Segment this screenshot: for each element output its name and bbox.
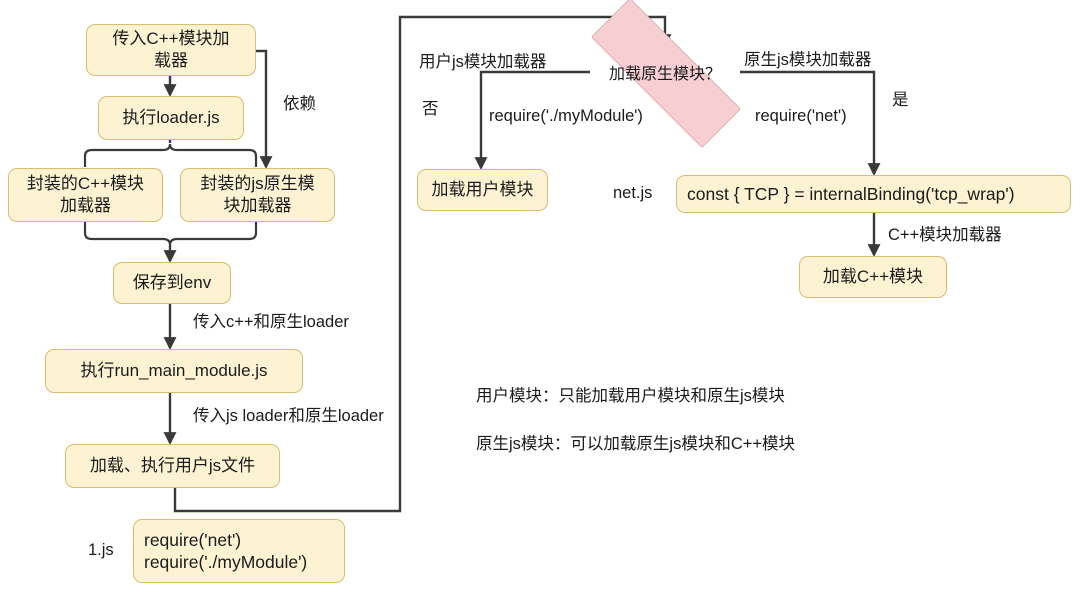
node-label: 封装的js原生模 块加载器 [200,173,314,217]
node-label: const { TCP } = internalBinding('tcp_wra… [687,183,1015,205]
edge-label-pass-cpp-and-native-loader: 传入c++和原生loader [193,313,349,333]
side-label-text: net.js [613,184,652,202]
node-user-file-requires[interactable]: require('net') require('./myModule') [133,519,345,583]
node-label: 加载C++模块 [823,266,923,288]
note-text: 用户模块：只能加载用户模块和原生js模块 [476,387,785,405]
node-load-run-user-js-file[interactable]: 加载、执行用户js文件 [65,444,280,488]
edge-label-text: C++模块加载器 [888,226,1002,244]
node-label: 执行run_main_module.js [80,360,267,382]
node-label: require('net') require('./myModule') [144,529,307,574]
edge-label-text: 传入c++和原生loader [193,313,349,331]
node-wrapped-js-native-module-loader[interactable]: 封装的js原生模 块加载器 [180,168,335,222]
side-label-text: 用户js模块加载器 [419,53,546,71]
node-label: 封装的C++模块 加载器 [27,173,144,217]
edge-label-text: 依赖 [283,95,316,113]
flowchart-canvas: 传入C++模块加 载器 执行loader.js 封装的C++模块 加载器 封装的… [0,0,1080,615]
side-label-text: 1.js [88,541,114,559]
node-label: 加载用户模块 [432,179,534,201]
node-label: 执行loader.js [122,107,219,129]
edge-n1-n4-dependency [256,51,266,167]
edge-label-pass-js-loader-and-native-loader: 传入js loader和原生loader [193,407,384,427]
edge-label-yes: 是 [892,91,909,111]
edge-label-text: 否 [422,100,439,118]
note-native-js-module: 原生js模块：可以加载原生js模块和C++模块 [476,430,795,454]
node-load-cpp-module[interactable]: 加载C++模块 [799,256,947,298]
side-label-user-js-module-loader: 用户js模块加载器 [419,48,546,72]
node-run-main-module-js[interactable]: 执行run_main_module.js [45,349,303,393]
edge-label-no: 否 [422,100,439,120]
node-pass-cpp-module-loader[interactable]: 传入C++模块加 载器 [86,24,256,76]
note-text: 原生js模块：可以加载原生js模块和C++模块 [476,435,795,453]
node-run-loader-js[interactable]: 执行loader.js [98,96,244,140]
node-label: 保存到env [133,272,211,294]
note-user-module: 用户模块：只能加载用户模块和原生js模块 [476,382,785,406]
node-netjs-internal-binding[interactable]: const { TCP } = internalBinding('tcp_wra… [676,175,1071,213]
edge-label-cpp-module-loader: C++模块加载器 [888,226,1002,246]
node-wrapped-cpp-module-loader[interactable]: 封装的C++模块 加载器 [8,168,163,222]
side-label-net-js: net.js [613,184,652,203]
decision-label: 加载原生模块？ [609,60,721,84]
node-save-to-env[interactable]: 保存到env [113,262,231,304]
brace-n2-split [85,144,256,167]
edge-label-text: 传入js loader和原生loader [193,407,384,425]
edge-label-dependency: 依赖 [283,95,316,115]
decision-load-native-module[interactable]: 加载原生模块？ [555,34,775,110]
brace-merge-to-n5 [85,222,256,245]
node-label: 加载、执行用户js文件 [90,455,255,477]
node-label: 传入C++模块加 载器 [112,28,229,72]
edge-label-text: 是 [892,91,909,109]
node-load-user-module[interactable]: 加载用户模块 [417,169,548,211]
side-label-1-js: 1.js [88,541,114,560]
